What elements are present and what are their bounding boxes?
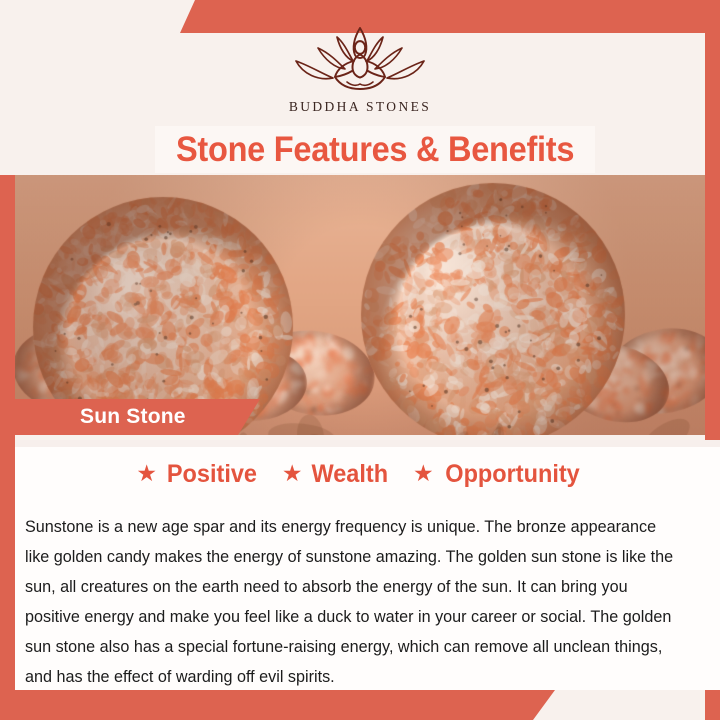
benefit-label: Positive: [167, 460, 257, 489]
panel-top-divider: [15, 440, 720, 447]
description-text: Sunstone is a new age spar and its energ…: [25, 512, 684, 692]
stone-photo: Sun Stone: [15, 175, 705, 435]
benefits-row: ★ Positive ★ Wealth ★ Opportunity: [15, 460, 705, 489]
sunstone-photo-image: [15, 175, 705, 435]
star-icon: ★: [136, 462, 157, 485]
benefit-label: Opportunity: [445, 460, 579, 489]
page-title: Stone Features & Benefits: [155, 126, 595, 173]
frame-band-left: [0, 175, 15, 720]
header: BUDDHA STONES Stone Features & Benefits: [15, 0, 705, 175]
star-icon: ★: [282, 462, 303, 485]
benefit-item: ★ Wealth: [282, 460, 391, 489]
content-panel: ★ Positive ★ Wealth ★ Opportunity Sunsto…: [15, 440, 720, 690]
star-icon: ★: [413, 462, 434, 485]
frame-band-bottom: [0, 690, 555, 720]
lotus-meditation-icon: [285, 24, 435, 96]
stone-name-ribbon: Sun Stone: [15, 399, 260, 435]
page-title-text: Stone Features & Benefits: [176, 130, 574, 170]
benefit-item: ★ Positive: [136, 460, 260, 489]
brand-name: BUDDHA STONES: [289, 99, 431, 115]
benefit-label: Wealth: [312, 460, 389, 489]
brand-logo: BUDDHA STONES: [15, 24, 705, 115]
stone-name-label: Sun Stone: [80, 405, 186, 429]
benefit-item: ★ Opportunity: [413, 460, 584, 489]
